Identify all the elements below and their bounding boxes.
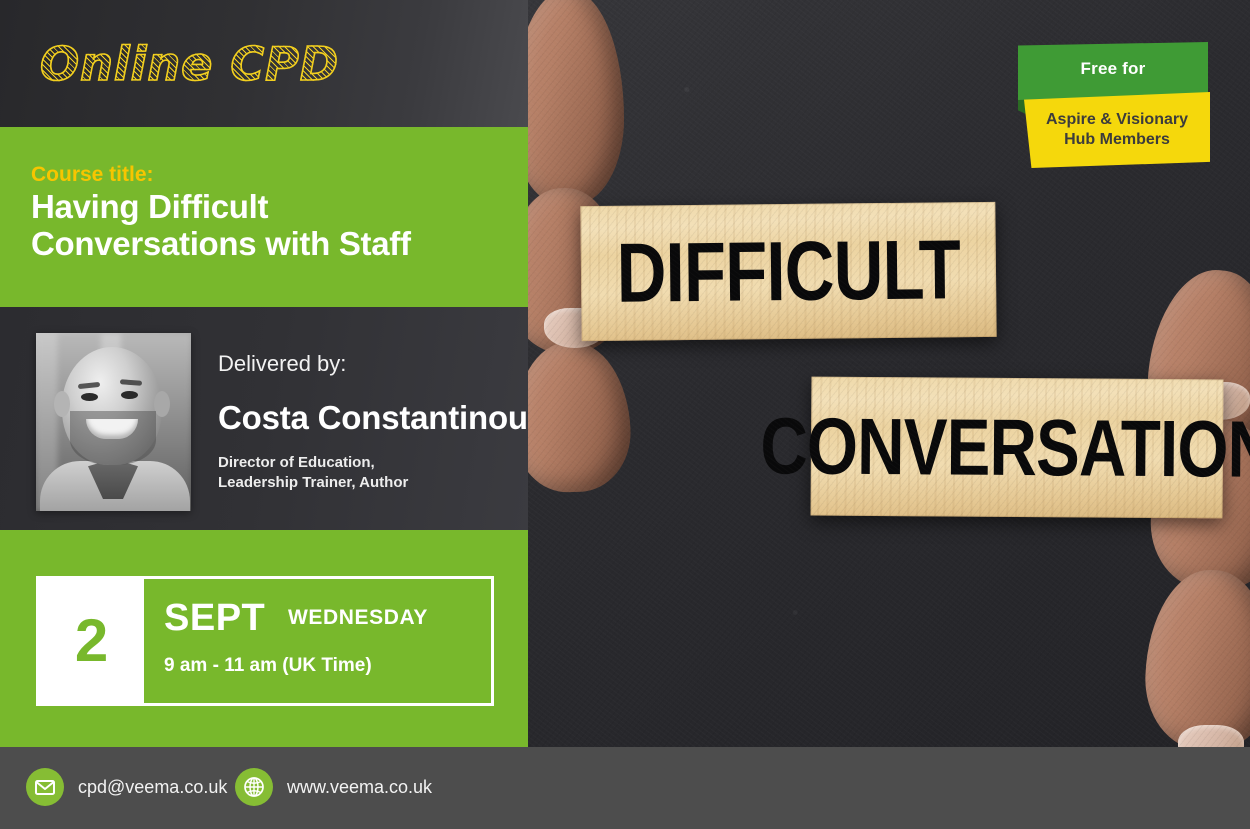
free-for-members-badge: Free for Aspire & Visionary Hub Members — [1000, 30, 1235, 170]
course-title-panel: Course title: Having Difficult Conversat… — [0, 127, 528, 307]
event-date-panel: 2 SEPT WEDNESDAY 9 am - 11 am (UK Time) — [0, 530, 528, 747]
finger — [1143, 568, 1250, 747]
contact-website[interactable]: www.veema.co.uk — [235, 768, 432, 806]
wooden-block-difficult-text: DIFFICULT — [616, 221, 960, 322]
footer-bar: cpd@veema.co.uk www.veema.co.uk veema ™ — [0, 747, 1250, 829]
presenter-name: Costa Constantinou — [218, 399, 528, 437]
contact-email-text: cpd@veema.co.uk — [78, 777, 227, 798]
wooden-block-difficult: DIFFICULT — [580, 202, 996, 341]
contact-website-text: www.veema.co.uk — [287, 777, 432, 798]
date-day-box: 2 — [39, 579, 144, 703]
presenter-avatar — [36, 333, 191, 511]
badge-members-line1: Aspire & Visionary — [1046, 110, 1188, 130]
course-title-text: Having Difficult Conversations with Staf… — [31, 189, 501, 263]
date-time: 9 am - 11 am (UK Time) — [164, 655, 372, 677]
brand-title: Online CPD — [40, 37, 339, 91]
fingernail — [1178, 725, 1244, 747]
left-column: Online CPD Course title: Having Difficul… — [0, 0, 528, 747]
avatar-eye — [81, 393, 98, 401]
presenter-role: Director of Education, Leadership Traine… — [218, 453, 528, 494]
avatar-eye — [121, 391, 138, 399]
date-weekday: WEDNESDAY — [288, 606, 428, 630]
globe-icon — [235, 768, 273, 806]
course-title-label: Course title: — [31, 163, 154, 187]
badge-banner-green: Free for — [1018, 42, 1208, 100]
contact-email[interactable]: cpd@veema.co.uk — [26, 768, 227, 806]
date-box: 2 SEPT WEDNESDAY 9 am - 11 am (UK Time) — [36, 576, 494, 706]
finger — [528, 0, 624, 205]
avatar-ear — [154, 391, 170, 417]
brand-header: Online CPD — [0, 0, 528, 127]
envelope-icon — [26, 768, 64, 806]
wooden-block-conversation-text: CONVERSATION — [760, 400, 1250, 496]
presenter-panel: Delivered by: Costa Constantinou Directo… — [0, 307, 528, 530]
date-info-box: SEPT WEDNESDAY 9 am - 11 am (UK Time) — [144, 579, 491, 703]
badge-members-line2: Hub Members — [1064, 130, 1170, 150]
badge-free-for-text: Free for — [1081, 59, 1146, 79]
date-day-number: 2 — [75, 611, 108, 671]
cpd-course-flyer: DIFFICULT CONVERSATION Free for Aspire &… — [0, 0, 1250, 829]
badge-banner-yellow: Aspire & Visionary Hub Members — [1024, 92, 1210, 168]
finger — [528, 340, 633, 494]
avatar-ear — [54, 391, 70, 417]
wooden-block-conversation: CONVERSATION — [811, 377, 1224, 519]
date-month: SEPT — [164, 597, 265, 640]
delivered-by-label: Delivered by: — [218, 351, 528, 377]
presenter-details: Delivered by: Costa Constantinou Directo… — [218, 351, 528, 494]
